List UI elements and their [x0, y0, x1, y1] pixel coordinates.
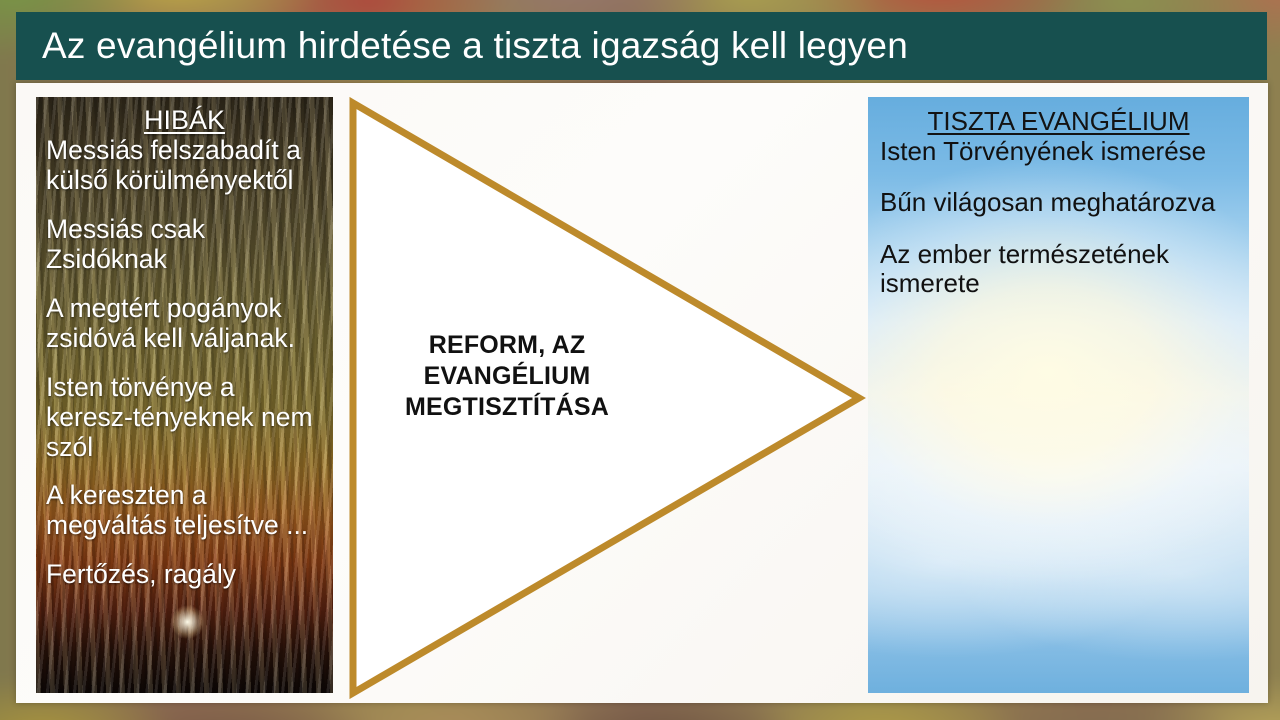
- errors-item-1: Messiás felszabadít a külső körülményekt…: [46, 136, 323, 196]
- pure-gospel-heading: TISZTA EVANGÉLIUM: [880, 107, 1237, 137]
- slide-canvas: Az evangélium hirdetése a tiszta igazság…: [0, 0, 1280, 720]
- errors-item-2: Messiás csak Zsidóknak: [46, 215, 323, 275]
- errors-item-5: A kereszten a megváltás teljesítve ...: [46, 481, 323, 541]
- errors-item-6: Fertőzés, ragály: [46, 560, 323, 590]
- errors-text-block: HIBÁK Messiás felszabadít a külső körülm…: [36, 97, 333, 609]
- pure-gospel-item-3: Az ember természetének ismerete: [880, 240, 1237, 299]
- errors-heading: HIBÁK: [46, 105, 323, 136]
- pure-gospel-item-1: Isten Törvényének ismerése: [880, 137, 1237, 166]
- pure-gospel-text-block: TISZTA EVANGÉLIUM Isten Törvényének isme…: [868, 97, 1249, 320]
- errors-item-3: A megtért pogányok zsidóvá kell váljanak…: [46, 294, 323, 354]
- page-title: Az evangélium hirdetése a tiszta igazság…: [16, 25, 908, 67]
- errors-panel: HIBÁK Messiás felszabadít a külső körülm…: [36, 97, 333, 693]
- pure-gospel-item-2: Bűn világosan meghatározva: [880, 188, 1237, 217]
- pure-gospel-panel: TISZTA EVANGÉLIUM Isten Törvényének isme…: [868, 97, 1249, 693]
- title-bar: Az evangélium hirdetése a tiszta igazság…: [16, 12, 1267, 80]
- errors-item-4: Isten törvénye a keresz-tényeknek nem sz…: [46, 373, 323, 463]
- reform-arrow-label: REFORM, AZ EVANGÉLIUM MEGTISZTÍTÁSA: [352, 330, 662, 423]
